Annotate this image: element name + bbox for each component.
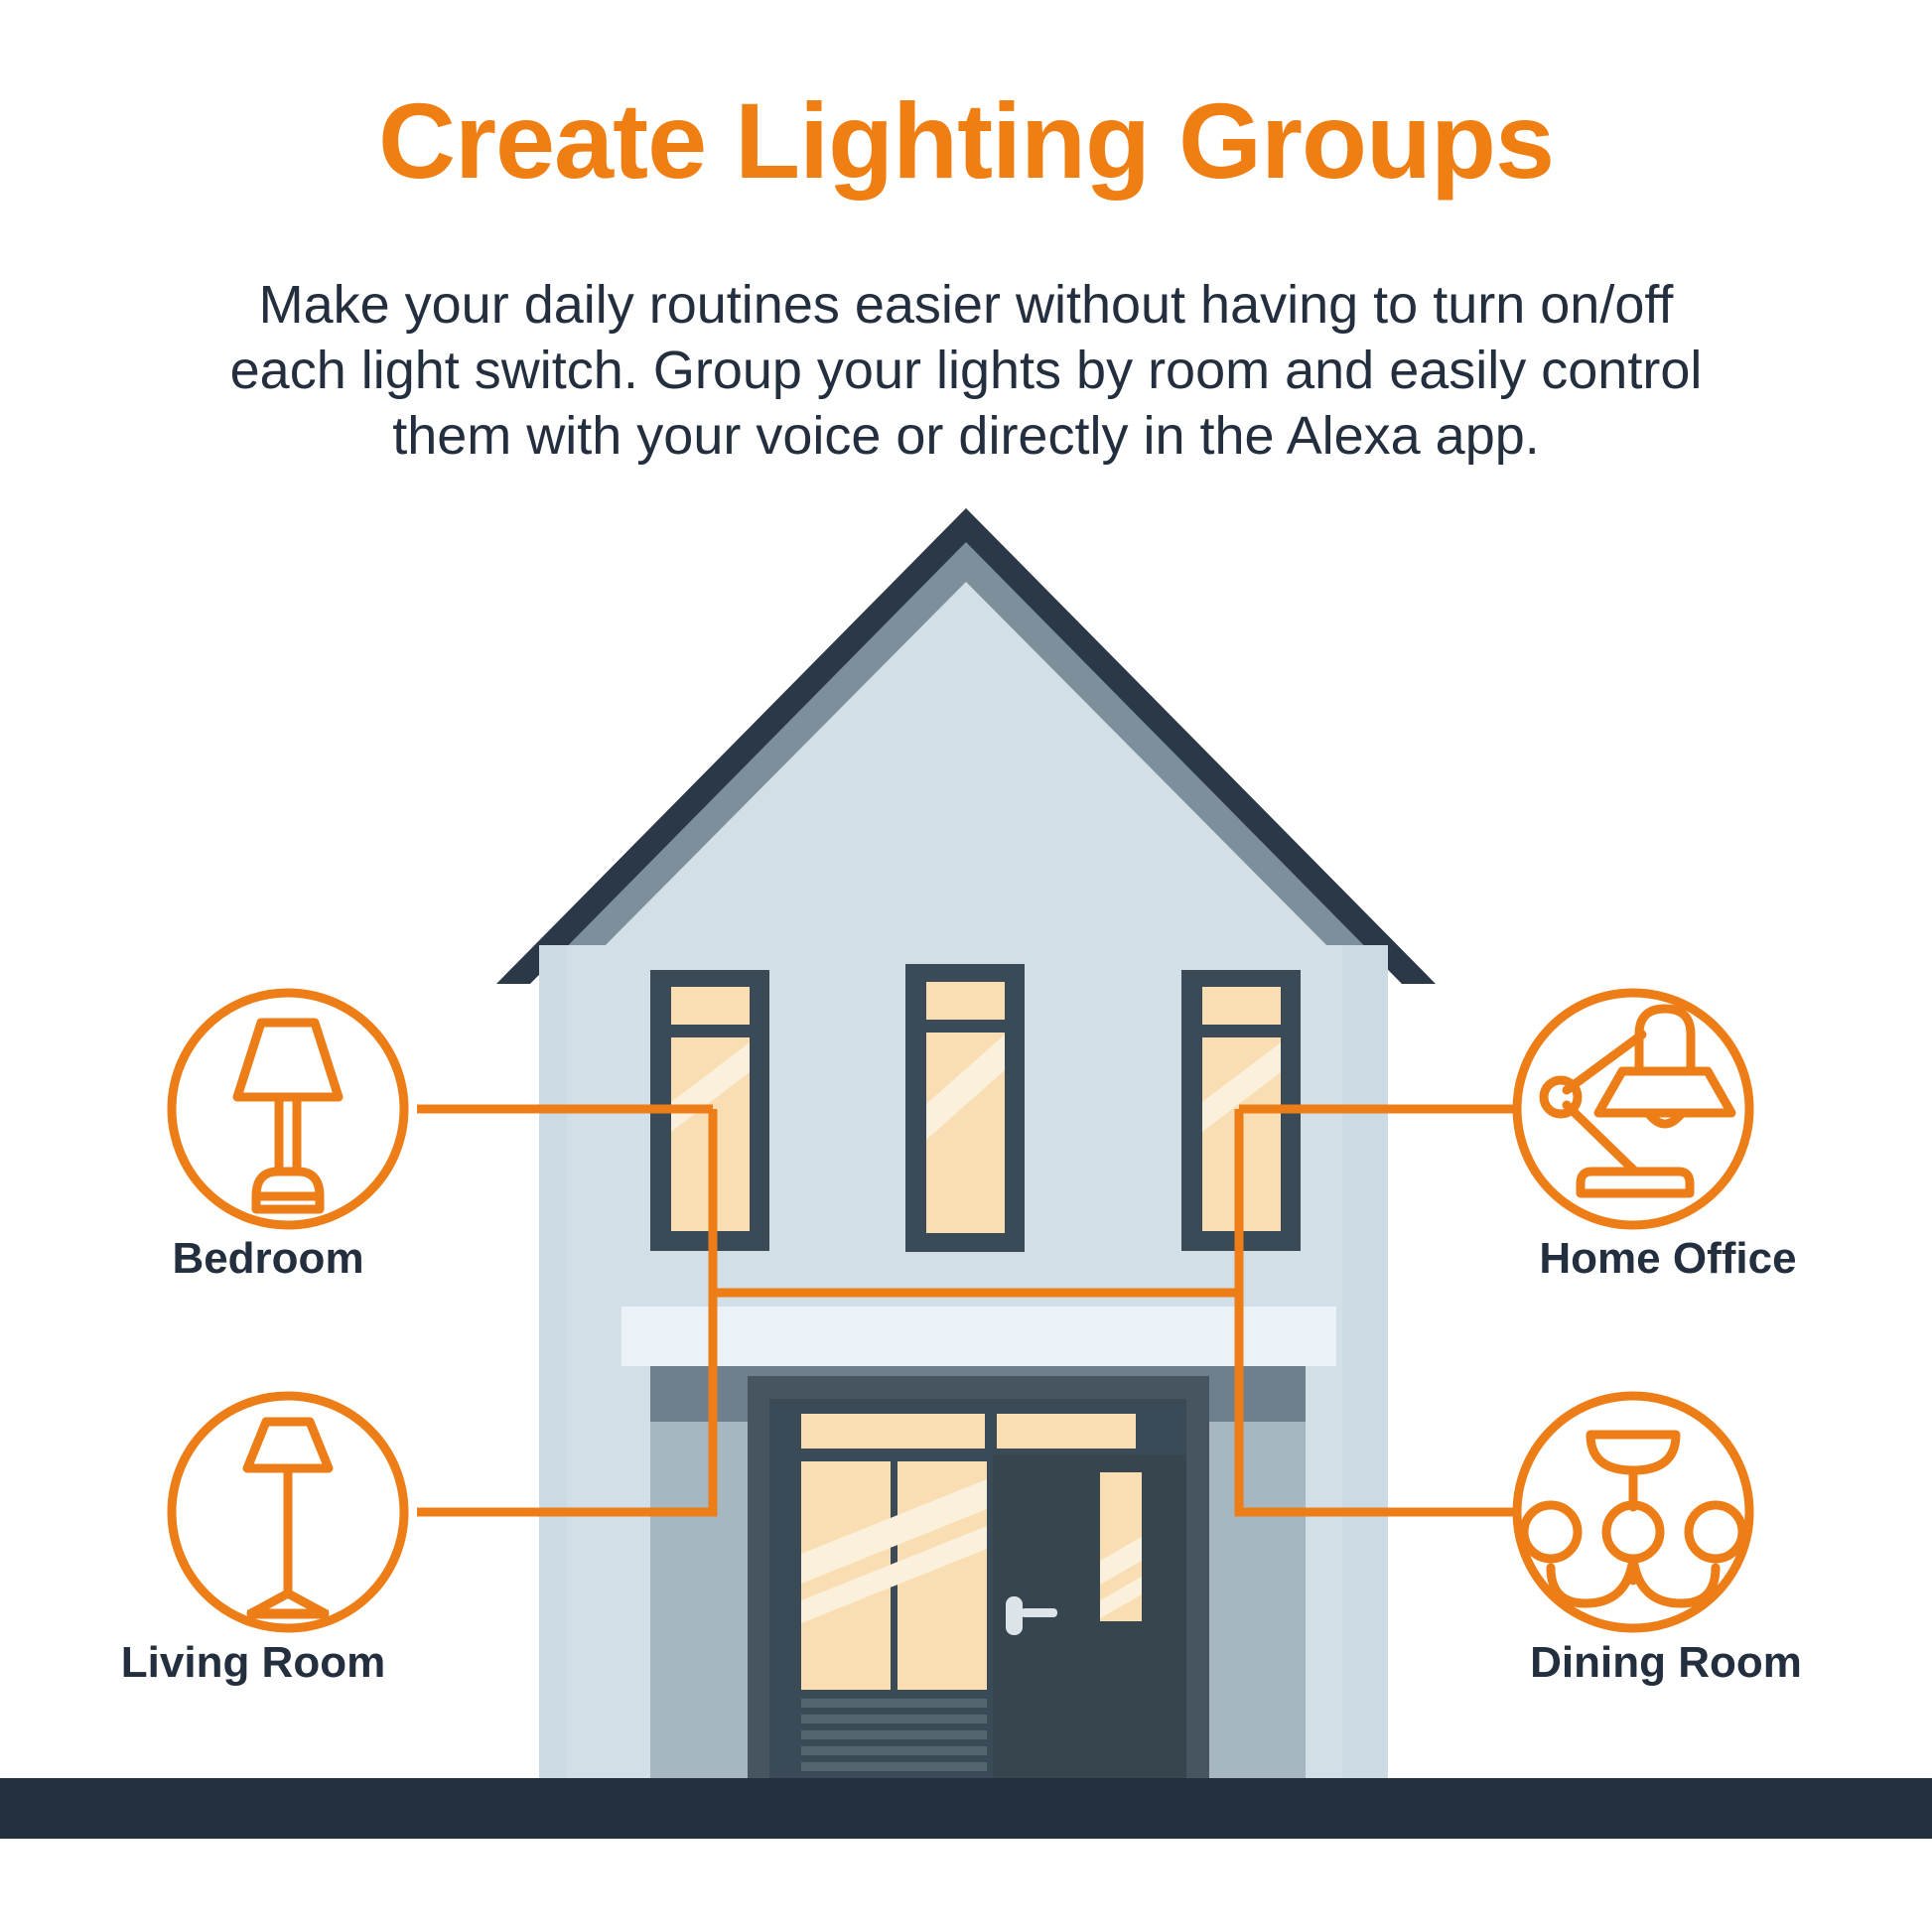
infographic-canvas: Create Lighting Groups Make your daily r… — [0, 0, 1932, 1932]
house-body-right-shade — [1342, 945, 1388, 1784]
porch-awning — [621, 1307, 1336, 1366]
node-dining-room — [1517, 1396, 1749, 1628]
footer-bar — [0, 1778, 1932, 1839]
node-home-office — [1517, 993, 1749, 1225]
door-handle-lever — [1021, 1608, 1057, 1617]
bedroom-circle — [172, 993, 404, 1225]
window-center-transom-glass — [926, 982, 1005, 1020]
house-body-left-shade — [539, 945, 567, 1784]
door-handle — [1006, 1596, 1023, 1635]
door-transom-right-pane — [997, 1414, 1136, 1449]
node-label-living-room: Living Room — [45, 1638, 462, 1688]
window-left-transom-glass — [671, 987, 750, 1025]
window-center — [905, 964, 1025, 1252]
node-living-room — [172, 1396, 404, 1628]
node-label-dining-room: Dining Room — [1457, 1638, 1874, 1688]
node-label-bedroom: Bedroom — [60, 1234, 477, 1284]
node-label-home-office: Home Office — [1459, 1234, 1876, 1284]
node-bedroom — [172, 993, 404, 1225]
window-right-transom-glass — [1202, 987, 1281, 1025]
door-transom-left-pane — [801, 1414, 985, 1449]
two-story-house-illustration — [496, 508, 1436, 1784]
